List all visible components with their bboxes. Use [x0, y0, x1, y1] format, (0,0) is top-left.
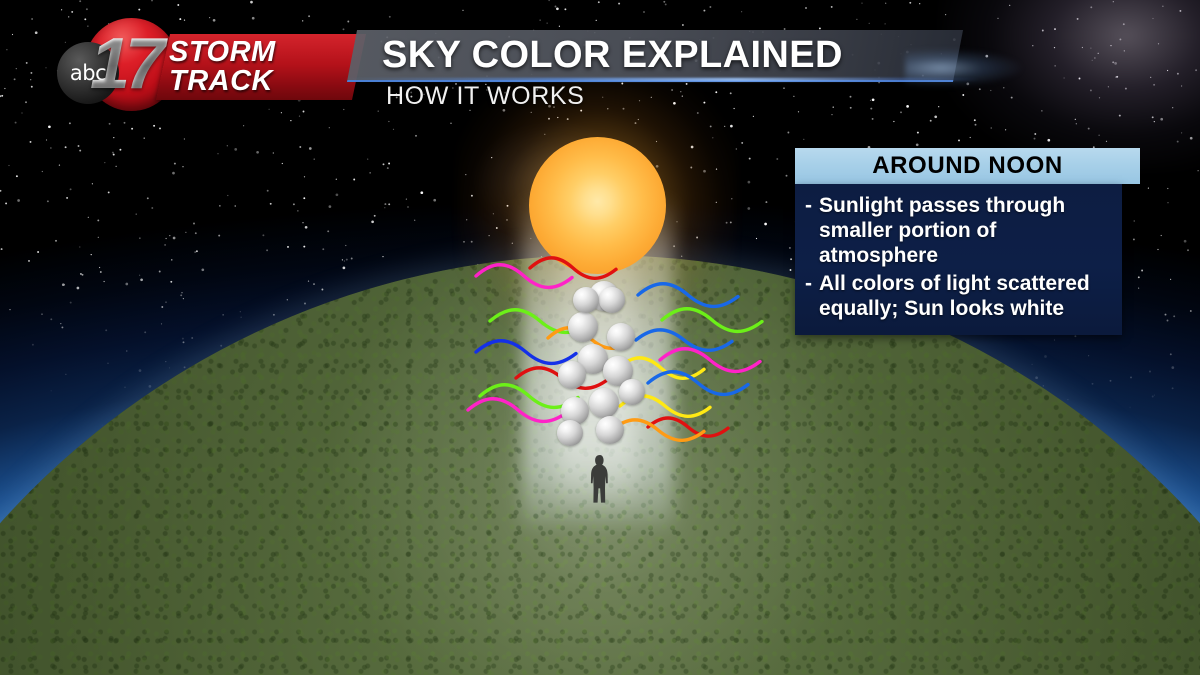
air-molecule [557, 420, 583, 446]
air-molecule [589, 388, 619, 418]
info-bullet: - Sunlight passes through smaller portio… [803, 193, 1112, 268]
info-bullet: - All colors of light scattered equally;… [803, 271, 1112, 321]
air-molecule [573, 287, 599, 313]
weather-graphic-slide: abc 17 STORM TRACK SKY COLOR EXPLAINED H… [0, 0, 1200, 675]
air-molecule [558, 361, 586, 389]
info-panel-heading: AROUND NOON [795, 148, 1140, 184]
channel-number: 17 [90, 24, 180, 104]
air-molecule [599, 287, 625, 313]
brand-line-2: TRACK [169, 67, 369, 96]
info-panel: AROUND NOON - Sunlight passes through sm… [795, 148, 1140, 335]
light-wave [476, 265, 572, 288]
bullet-marker: - [803, 271, 812, 296]
storm-track-wordmark: STORM TRACK [169, 34, 369, 100]
page-subtitle: HOW IT WORKS [386, 82, 584, 111]
air-molecule [619, 379, 645, 405]
brand-line-1: STORM [169, 38, 369, 67]
bullet-marker: - [803, 193, 812, 218]
page-title: SKY COLOR EXPLAINED [382, 32, 962, 78]
person-silhouette [589, 455, 611, 503]
air-molecule [596, 416, 624, 444]
air-molecule [568, 312, 598, 342]
light-wave [468, 399, 568, 422]
light-wave [476, 341, 576, 364]
air-molecule [607, 323, 635, 351]
bullet-text: Sunlight passes through smaller portion … [819, 193, 1112, 268]
station-logo[interactable]: abc 17 STORM TRACK [57, 14, 357, 108]
info-panel-body: - Sunlight passes through smaller portio… [795, 184, 1122, 335]
bullet-text: All colors of light scattered equally; S… [819, 271, 1112, 321]
light-wave [662, 309, 762, 332]
light-wave [638, 284, 738, 307]
light-wave [660, 349, 760, 372]
light-wave [530, 258, 616, 278]
title-bar-underline-glow [340, 78, 980, 81]
